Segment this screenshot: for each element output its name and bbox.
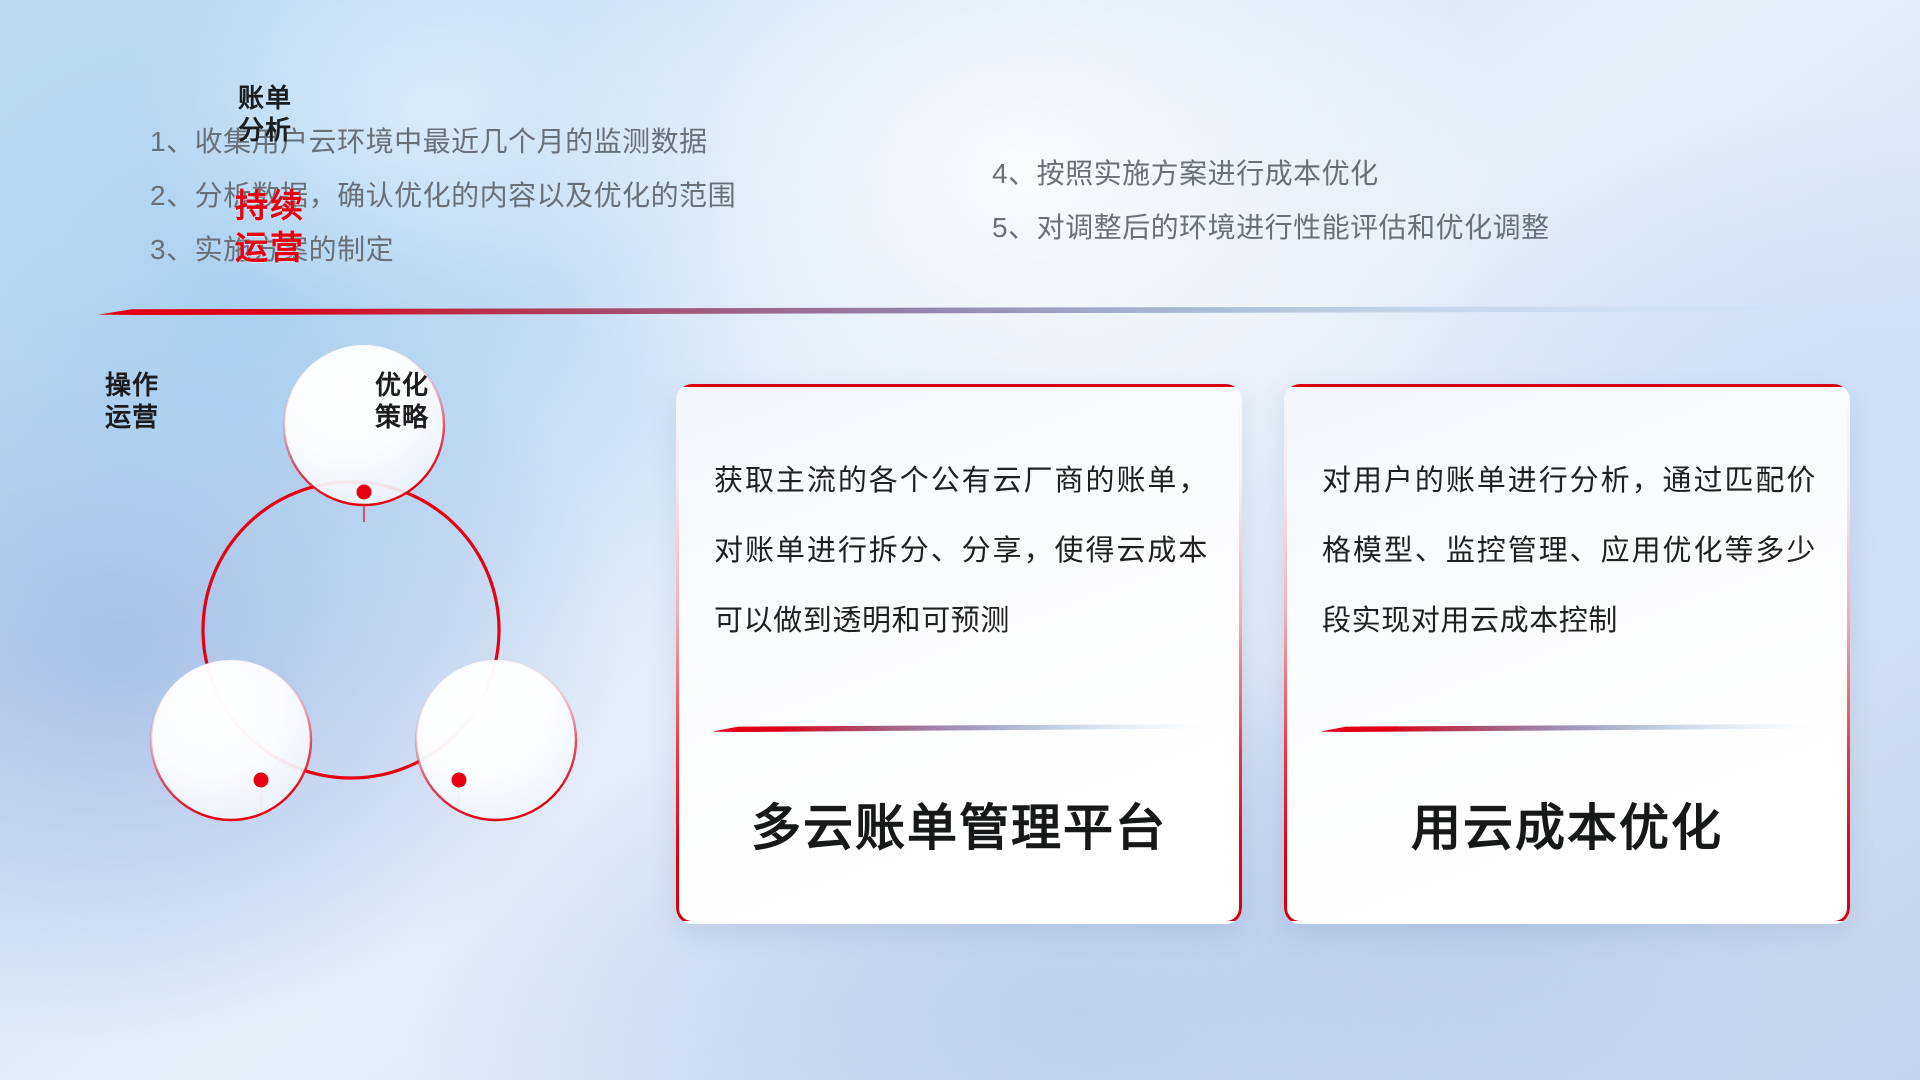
step-item: 4、按照实施方案进行成本优化 — [992, 160, 1550, 188]
venn-node-right — [416, 660, 576, 820]
card-divider — [1320, 724, 1812, 732]
section-divider — [98, 306, 1838, 315]
step-item: 5、对调整后的环境进行性能评估和优化调整 — [992, 214, 1550, 242]
card-title: 用云成本优化 — [1284, 788, 1850, 860]
slide-canvas: 1、收集用户云环境中最近几个月的监测数据 2、分析数据，确认优化的内容以及优化的… — [0, 0, 1920, 1080]
venn-label-top: 账单 分析 — [185, 83, 345, 146]
steps-list-right: 4、按照实施方案进行成本优化 5、对调整后的环境进行性能评估和优化调整 — [992, 160, 1550, 242]
card-body-text: 对用户的账单进行分析，通过匹配价格模型、监控管理、应用优化等多少段实现对用云成本… — [1322, 446, 1816, 657]
card-body-text: 获取主流的各个公有云厂商的账单，对账单进行拆分、分享，使得云成本可以做到透明和可… — [714, 446, 1208, 657]
feature-card[interactable]: 对用户的账单进行分析，通过匹配价格模型、监控管理、应用优化等多少段实现对用云成本… — [1284, 384, 1850, 924]
venn-dot-top — [357, 485, 372, 500]
venn-label-right: 优化 策略 — [322, 370, 482, 433]
venn-label-left: 操作 运营 — [52, 370, 212, 433]
venn-dot-right — [452, 773, 467, 788]
card-title: 多云账单管理平台 — [676, 788, 1242, 860]
venn-dot-left — [254, 773, 269, 788]
venn-label-center: 持续 运营 — [175, 185, 365, 269]
venn-node-left — [151, 660, 311, 820]
feature-card[interactable]: 获取主流的各个公有云厂商的账单，对账单进行拆分、分享，使得云成本可以做到透明和可… — [676, 384, 1242, 924]
card-divider — [712, 724, 1204, 732]
